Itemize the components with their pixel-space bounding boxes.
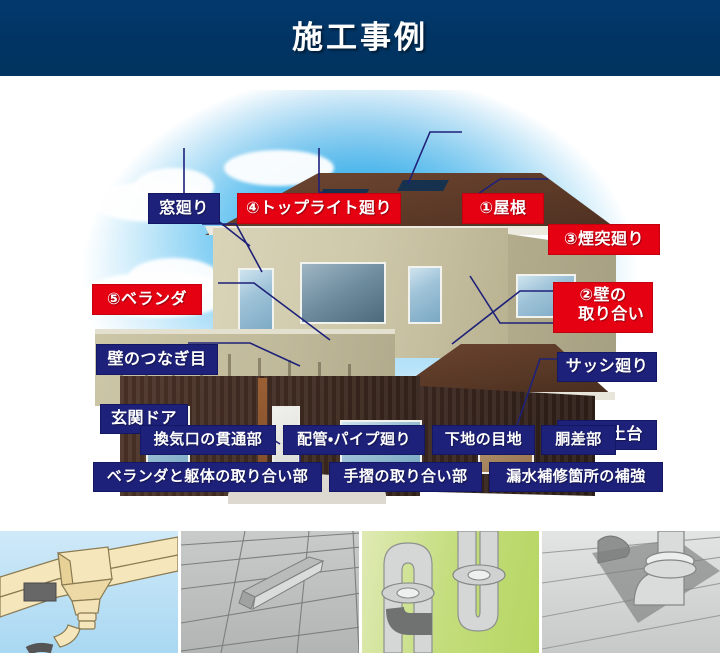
callout-sash-around[interactable]: サッシ廻り [557, 352, 657, 382]
photo-pipes[interactable] [362, 531, 540, 653]
window-upper-left [238, 268, 274, 336]
window-upper-mid [408, 266, 442, 324]
roof-pipe-penetration-illustration [542, 531, 720, 653]
page-header-banner: 施工事例 [0, 0, 720, 76]
tag-handrail-joint[interactable]: 手摺の取り合い部 [329, 462, 482, 492]
施工事例-page: 施工事例 [0, 0, 720, 653]
window-balcony-door [300, 262, 386, 324]
roof-ridge-illustration [181, 531, 359, 653]
gutter-illustration [0, 531, 178, 653]
page-title: 施工事例 [0, 0, 720, 76]
callout-wall-seam[interactable]: 壁のつなぎ目 [96, 344, 218, 375]
detail-illustration-strip [0, 531, 720, 653]
pipe-trap-illustration [362, 531, 540, 653]
photo-roof-ridge[interactable] [181, 531, 359, 653]
callout-chimney-around[interactable]: ③煙突廻り [548, 224, 660, 255]
tag-girth-section[interactable]: 胴差部 [541, 425, 616, 455]
callout-wall-junction[interactable]: ②壁の 取り合い [553, 282, 653, 333]
tag-substrate-joint[interactable]: 下地の目地 [432, 425, 535, 455]
photo-roof-pipe[interactable] [542, 531, 720, 653]
callout-veranda[interactable]: ⑤ベランダ [92, 284, 202, 315]
callout-toplight-around[interactable]: ④トップライト廻り [237, 193, 401, 224]
photo-gutter[interactable] [0, 531, 178, 653]
callout-roof[interactable]: ①屋根 [462, 193, 544, 224]
skylight-icon [397, 180, 449, 191]
tag-vent-penetration[interactable]: 換気口の貫通部 [140, 425, 276, 455]
callout-window-around[interactable]: 窓廻り [148, 193, 220, 224]
house-diagram: 窓廻り ④トップライト廻り ①屋根 ③煙突廻り ⑤ベランダ ②壁の 取り合い 壁… [0, 76, 720, 530]
tag-veranda-body-joint[interactable]: ベランダと躯体の取り合い部 [93, 462, 322, 492]
tag-pipe-around[interactable]: 配管・パイプ廻り [283, 425, 425, 455]
tag-leak-repair-reinforcement[interactable]: 漏水補修箇所の補強 [489, 462, 663, 492]
